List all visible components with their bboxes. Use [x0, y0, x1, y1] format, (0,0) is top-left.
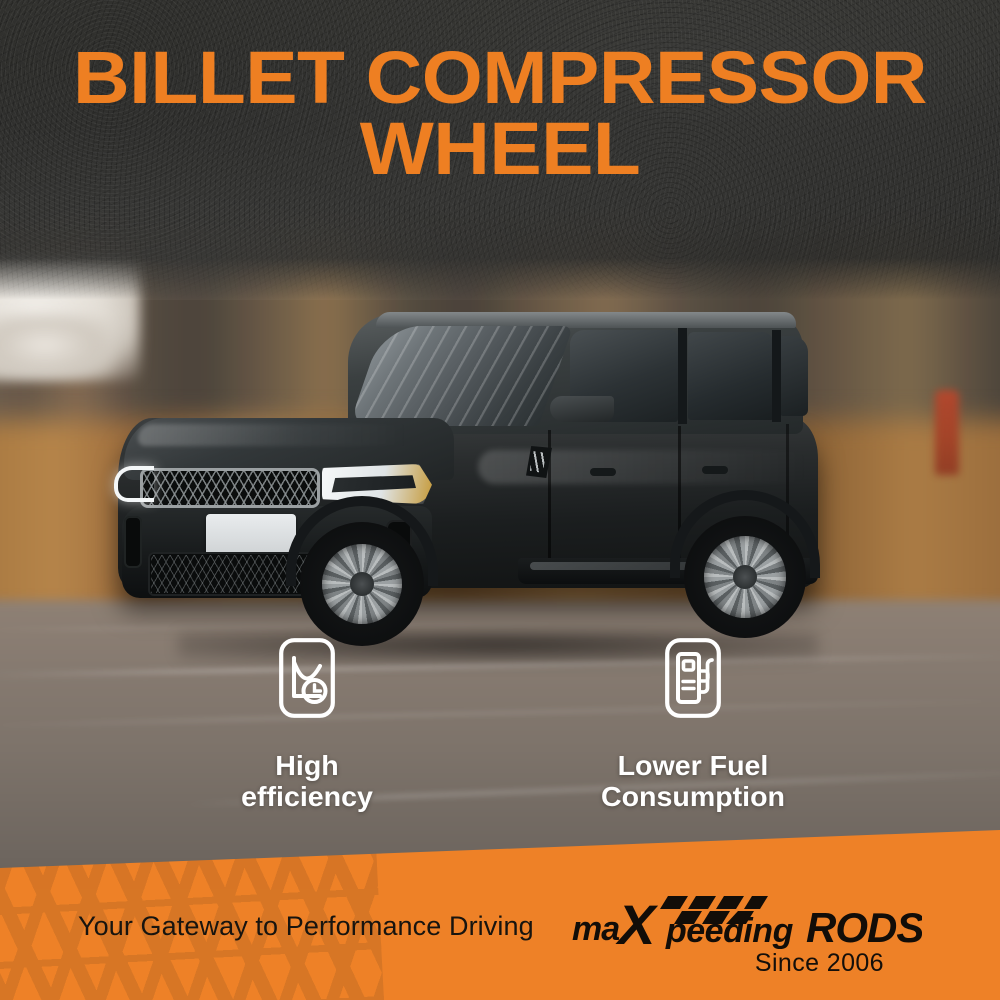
front-grille	[140, 468, 320, 508]
feature-label: High efficiency	[205, 750, 409, 813]
background-white-car-secondary	[0, 315, 110, 375]
feature-label: Lower Fuel Consumption	[591, 750, 795, 813]
rear-side-window	[688, 332, 774, 420]
logo-since-text: Since 2006	[755, 949, 884, 978]
page-title: BILLET COMPRESSOR WHEEL	[0, 42, 1000, 184]
maxpeedingrods-logotype: ma X peeding RODS	[572, 892, 922, 950]
headlight-left	[114, 466, 154, 502]
efficiency-chart-clock-icon	[279, 638, 335, 718]
hood-highlight	[138, 424, 408, 446]
svg-text:peeding: peeding	[665, 912, 794, 950]
c-pillar	[772, 330, 781, 422]
grille-mesh	[143, 471, 317, 505]
feature-label-line-2: Consumption	[601, 781, 785, 812]
tagline: Your Gateway to Performance Driving	[78, 911, 534, 942]
side-mirror	[550, 396, 614, 422]
door-handle	[590, 468, 616, 476]
b-pillar	[678, 328, 687, 424]
feature-label-line-1: Lower Fuel	[618, 750, 769, 781]
promo-poster: BILLET COMPRESSOR WHEEL High efficiency	[0, 0, 1000, 1000]
quarter-window	[780, 336, 808, 416]
svg-text:X: X	[615, 893, 659, 950]
feature-high-efficiency: High efficiency	[207, 638, 407, 813]
feature-label-line-2: efficiency	[241, 781, 373, 812]
feature-label-line-1: High	[275, 750, 338, 781]
door-handle	[702, 466, 728, 474]
suv-vehicle	[118, 300, 838, 660]
svg-text:RODS: RODS	[806, 904, 922, 950]
feature-list: High efficiency Lower Fuel Consumption	[0, 638, 1000, 813]
page-title-line-1: BILLET COMPRESSOR	[0, 42, 1000, 113]
background-red-hydrant	[935, 390, 959, 475]
feature-lower-fuel-consumption: Lower Fuel Consumption	[593, 638, 793, 813]
brand-logo[interactable]: ma X peeding RODS Since 2006	[572, 892, 922, 978]
svg-text:ma: ma	[572, 910, 619, 948]
bumper-vent-left	[124, 516, 142, 568]
page-title-line-2: WHEEL	[0, 113, 1000, 184]
fuel-pump-icon	[665, 638, 721, 718]
